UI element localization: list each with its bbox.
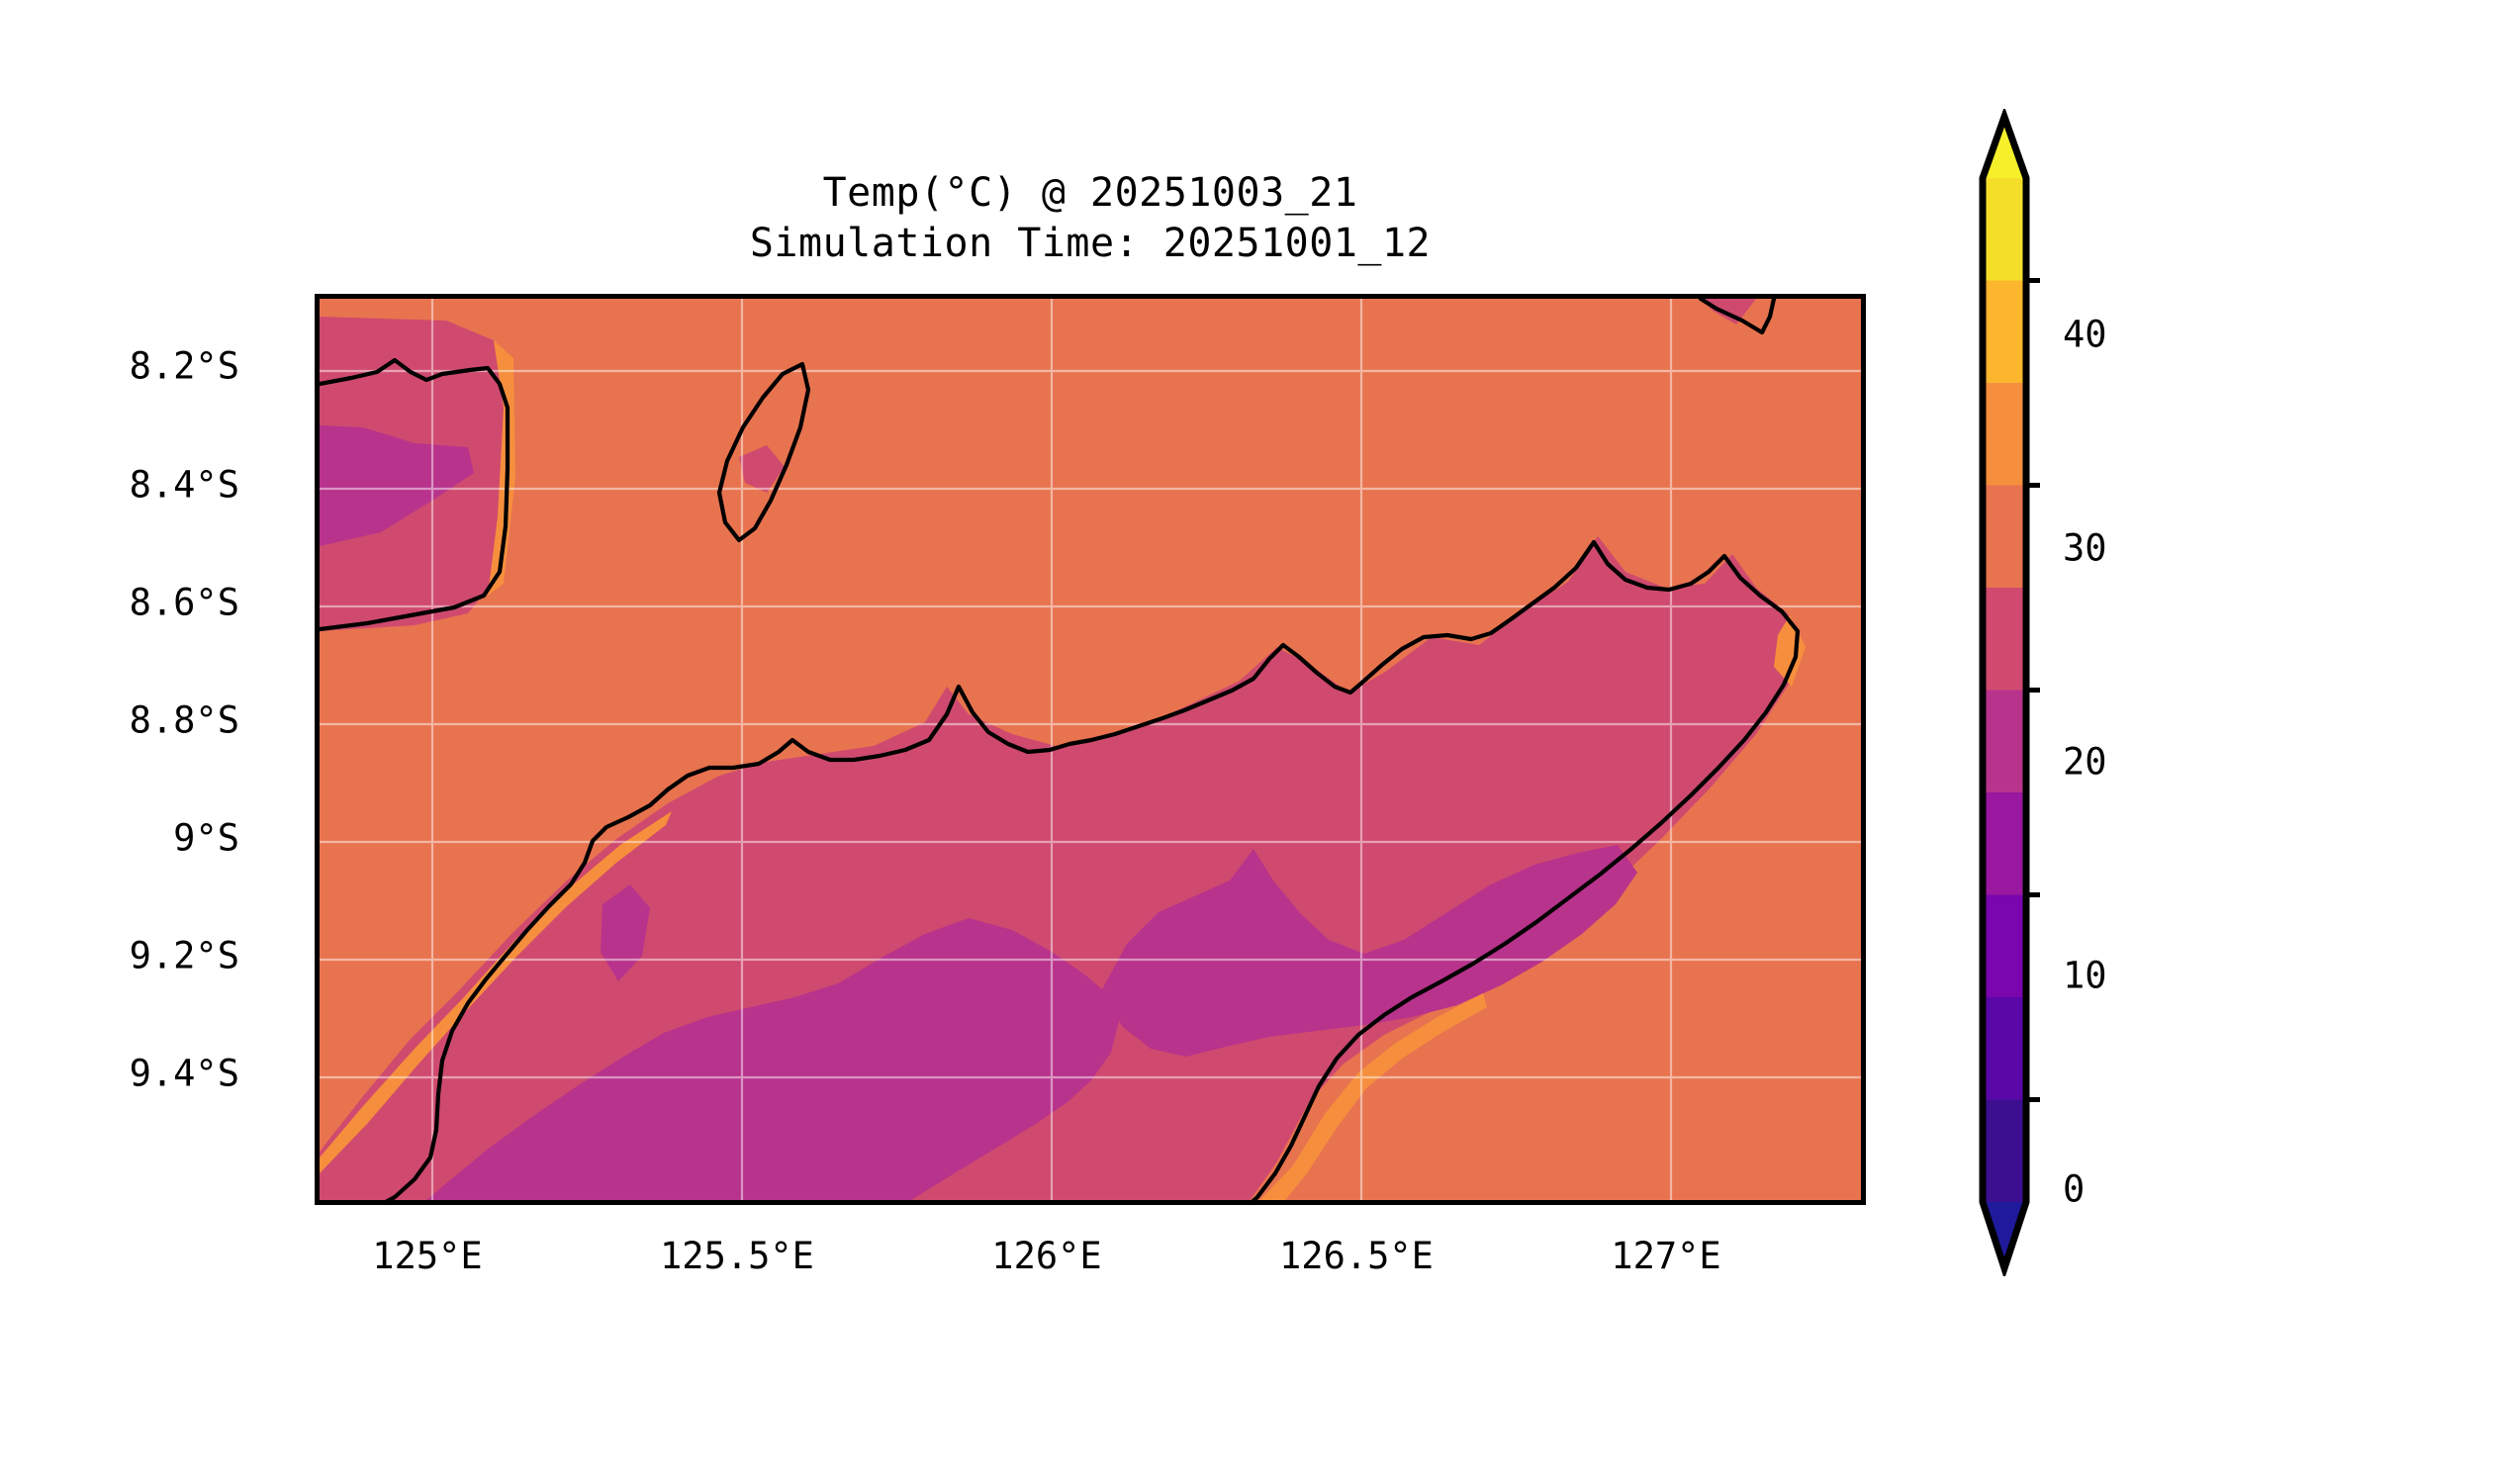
colorbar-gradient <box>1969 109 2040 1276</box>
colorbar-tick-label: 30 <box>2063 527 2107 570</box>
colorbar-tick-label: 0 <box>2063 1168 2085 1211</box>
figure-canvas: Temp(°C) @ 20251003_21 Simulation Time: … <box>0 0 2504 1484</box>
y-tick-label: 9.4°S <box>0 1053 239 1095</box>
colorbar-tick-label: 20 <box>2063 741 2107 784</box>
x-tick-label: 126.5°E <box>1279 1235 1434 1277</box>
map-plot-area <box>320 299 1861 1200</box>
map-axes[interactable] <box>315 294 1866 1205</box>
chart-title: Temp(°C) @ 20251003_21 Simulation Time: … <box>315 168 1866 269</box>
colorbar-bands <box>1983 178 2026 1202</box>
y-tick-label: 8.8°S <box>0 699 239 742</box>
y-tick-label: 8.4°S <box>0 464 239 507</box>
temperature-contour-map <box>320 299 1861 1200</box>
x-tick-label: 127°E <box>1611 1235 1720 1277</box>
x-tick-label: 125.5°E <box>660 1235 814 1277</box>
y-tick-label: 9.2°S <box>0 935 239 977</box>
x-tick-label: 126°E <box>991 1235 1101 1277</box>
title-line-2: Simulation Time: 20251001_12 <box>315 219 1866 269</box>
y-tick-label: 8.6°S <box>0 582 239 624</box>
y-tick-label: 8.2°S <box>0 345 239 388</box>
colorbar-tick-label: 10 <box>2063 955 2107 997</box>
colorbar[interactable] <box>1983 178 2026 1202</box>
title-line-1: Temp(°C) @ 20251003_21 <box>315 168 1866 219</box>
y-tick-label: 9°S <box>0 817 239 860</box>
colorbar-tick-label: 40 <box>2063 314 2107 356</box>
x-tick-label: 125°E <box>372 1235 482 1277</box>
